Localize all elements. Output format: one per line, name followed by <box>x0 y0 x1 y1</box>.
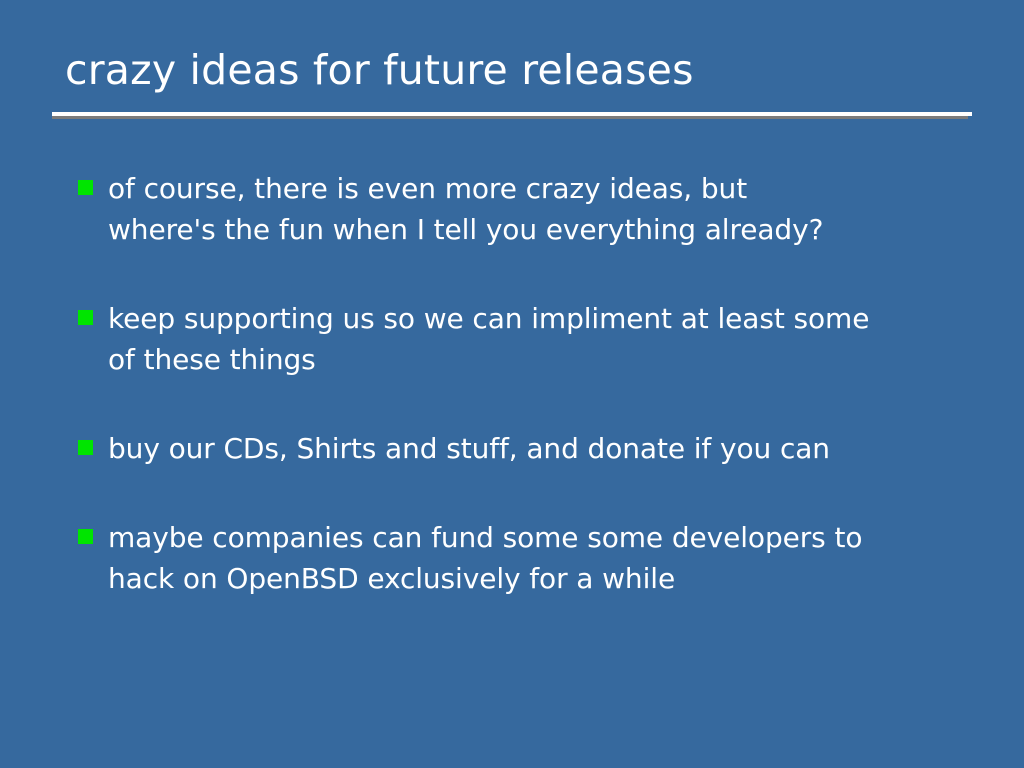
list-item-text: of course, there is even more crazy idea… <box>108 172 823 246</box>
green-square-bullet-icon <box>78 180 93 195</box>
list-item-text: buy our CDs, Shirts and stuff, and donat… <box>108 432 830 465</box>
presentation-slide: crazy ideas for future releases of cours… <box>0 0 1024 768</box>
list-item-text: keep supporting us so we can impliment a… <box>108 302 869 376</box>
green-square-bullet-icon <box>78 529 93 544</box>
list-item-text: maybe companies can fund some some devel… <box>108 521 862 595</box>
list-item: buy our CDs, Shirts and stuff, and donat… <box>78 428 978 469</box>
green-square-bullet-icon <box>78 440 93 455</box>
list-item: of course, there is even more crazy idea… <box>78 168 978 250</box>
title-divider-shadow <box>52 116 968 119</box>
title-block: crazy ideas for future releases <box>52 48 972 93</box>
list-item: maybe companies can fund some some devel… <box>78 517 978 599</box>
green-square-bullet-icon <box>78 310 93 325</box>
title-divider <box>52 112 972 119</box>
bullet-list: of course, there is even more crazy idea… <box>78 168 978 599</box>
list-item: keep supporting us so we can impliment a… <box>78 298 978 380</box>
page-title: crazy ideas for future releases <box>52 48 972 93</box>
